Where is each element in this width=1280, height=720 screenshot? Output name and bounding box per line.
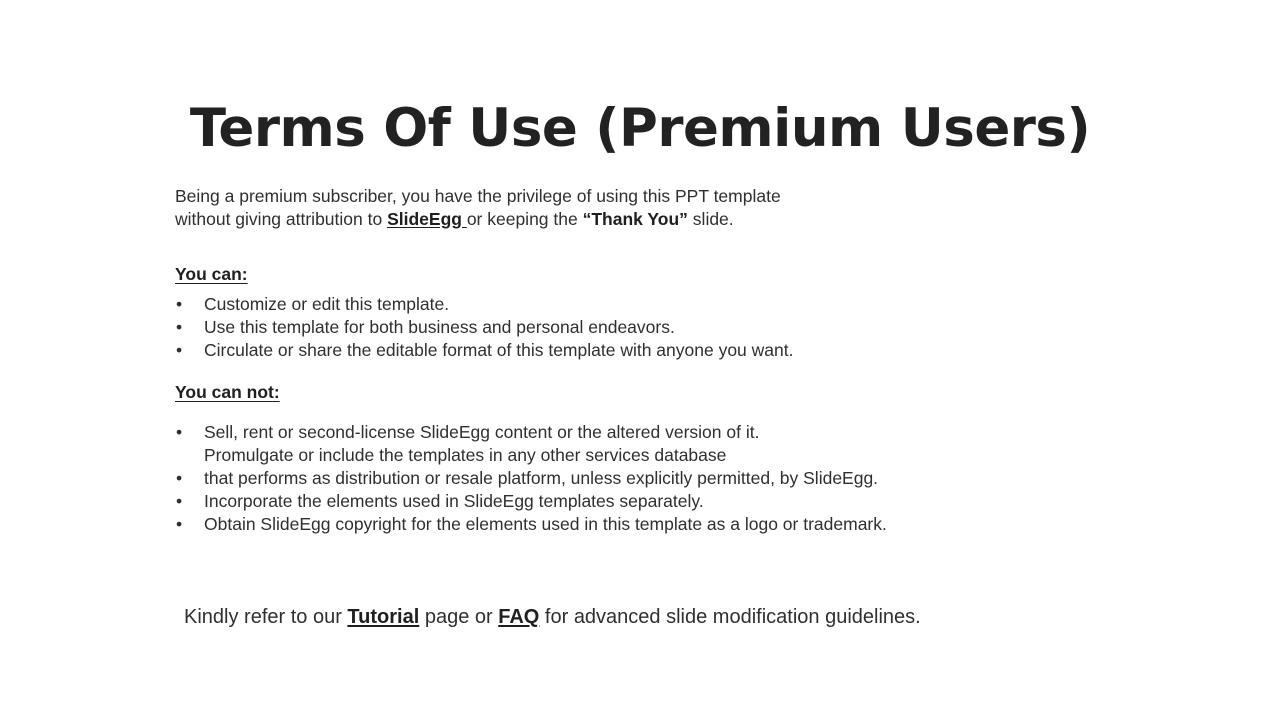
slideegg-link[interactable]: SlideEgg — [387, 209, 467, 229]
page-title: Terms Of Use (Premium Users) — [0, 98, 1280, 160]
intro-line-1: Being a premium subscriber, you have the… — [175, 185, 1075, 208]
list-item-label: Obtain SlideEgg copyright for the elemen… — [204, 513, 887, 536]
intro-line-2-text-a: without giving attribution to — [175, 209, 387, 229]
list-item: • Circulate or share the editable format… — [175, 339, 793, 362]
you-can-list: • Customize or edit this template. • Use… — [175, 293, 793, 362]
list-item: • Obtain SlideEgg copyright for the elem… — [175, 513, 887, 536]
footer-text-b: page or — [419, 606, 498, 628]
footer-text-a: Kindly refer to our — [184, 606, 347, 628]
intro-paragraph: Being a premium subscriber, you have the… — [175, 185, 1075, 230]
list-item: • Use this template for both business an… — [175, 316, 793, 339]
list-item-label: Circulate or share the editable format o… — [204, 339, 793, 362]
faq-link[interactable]: FAQ — [498, 606, 539, 628]
list-item: • Customize or edit this template. — [175, 293, 793, 316]
footer-note: Kindly refer to our Tutorial page or FAQ… — [184, 604, 921, 630]
intro-line-2: without giving attribution to SlideEgg o… — [175, 208, 1075, 231]
list-item: • Incorporate the elements used in Slide… — [175, 490, 887, 513]
list-item-label-wrap: Promulgate or include the templates in a… — [204, 444, 887, 467]
bullet-icon: • — [176, 513, 186, 536]
you-can-not-heading: You can not: — [175, 381, 280, 403]
intro-line-2-text-c: slide. — [688, 209, 734, 229]
list-item: • Sell, rent or second-license SlideEgg … — [175, 421, 887, 466]
you-can-heading: You can: — [175, 263, 248, 285]
list-item-label: Use this template for both business and … — [204, 316, 793, 339]
thank-you-emphasis: “Thank You” — [583, 209, 688, 229]
bullet-icon: • — [176, 421, 186, 444]
body-content: Being a premium subscriber, you have the… — [175, 185, 1075, 230]
you-can-not-list: • Sell, rent or second-license SlideEgg … — [175, 421, 887, 535]
list-item-label: Incorporate the elements used in SlideEg… — [204, 490, 887, 513]
slide-canvas: Terms Of Use (Premium Users) Being a pre… — [0, 0, 1280, 720]
list-item-label: that performs as distribution or resale … — [204, 467, 887, 490]
footer-text-c: for advanced slide modification guidelin… — [539, 606, 920, 628]
bullet-icon: • — [176, 316, 186, 339]
list-item-label: Sell, rent or second-license SlideEgg co… — [204, 421, 887, 444]
list-item: • that performs as distribution or resal… — [175, 467, 887, 490]
list-item-label: Customize or edit this template. — [204, 293, 793, 316]
bullet-icon: • — [176, 339, 186, 362]
bullet-icon: • — [176, 293, 186, 316]
tutorial-link[interactable]: Tutorial — [347, 606, 419, 628]
intro-line-2-text-b: or keeping the — [467, 209, 583, 229]
bullet-icon: • — [176, 467, 186, 490]
bullet-icon: • — [176, 490, 186, 513]
